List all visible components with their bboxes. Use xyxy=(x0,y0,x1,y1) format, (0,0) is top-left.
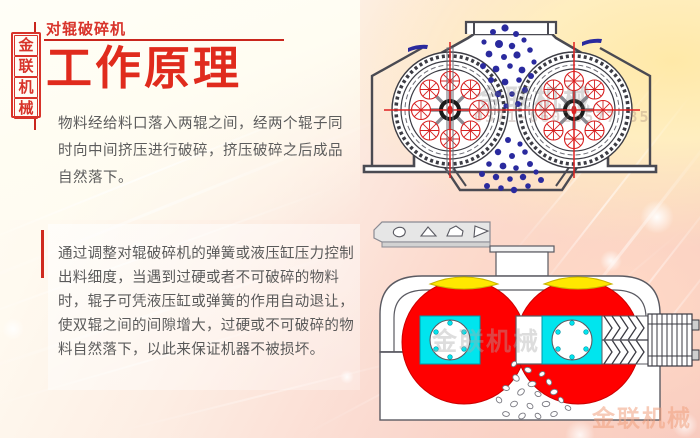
logo-char-4: 械 xyxy=(14,98,38,119)
cutaway-spring-assembly xyxy=(602,316,648,364)
roll-crusher-schematic-figure xyxy=(356,14,686,204)
logo-char-1: 金 xyxy=(14,35,38,56)
paragraph-2-accent-bar xyxy=(41,230,44,278)
roll-crusher-cutaway-figure xyxy=(356,212,700,438)
logo-char-3: 机 xyxy=(14,77,38,98)
cutaway-bearing-right xyxy=(542,316,602,364)
brand-logo-badge: 金 联 机 械 xyxy=(11,32,41,118)
page-title: 工作原理 xyxy=(46,43,242,93)
cutaway-inlet-box xyxy=(490,246,554,276)
description-paragraph-2: 通过调整对辊破碎机的弹簧或液压缸压力控制出料细度，当遇到过硬或者不可破碎的物料时… xyxy=(58,242,354,362)
cutaway-tension-rods xyxy=(648,314,699,366)
cutaway-feed-chute xyxy=(374,222,490,247)
infographic-canvas: 金 联 机 械 对辊破碎机 工作原理 物料经给料口落入两辊之间，经两个辊子同时向… xyxy=(0,0,700,438)
logo-char-2: 联 xyxy=(14,56,38,77)
description-paragraph-1: 物料经给料口落入两辊之间，经两个辊子同时向中间挤压进行破碎，挤压破碎之后成品自然… xyxy=(58,111,350,192)
cutaway-bearing-left xyxy=(420,316,480,364)
section-kicker: 对辊破碎机 xyxy=(46,18,126,39)
